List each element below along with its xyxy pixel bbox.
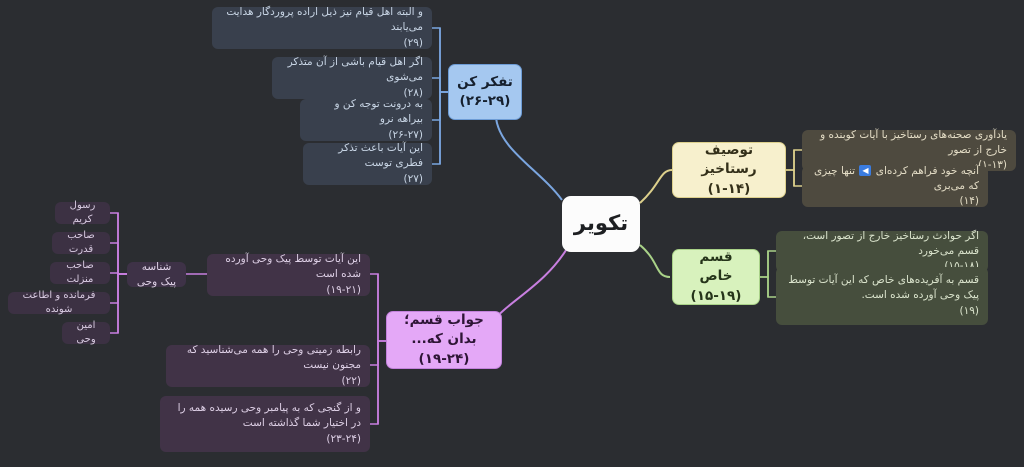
attribute-label: صاحب منزلت bbox=[59, 259, 101, 287]
leaf-text: و البته اهل قیام نیز ذیل اراده پروردگار … bbox=[221, 5, 423, 35]
leaf-node[interactable]: این آیات توسط پیک وحی آورده شده است (۱۹-… bbox=[207, 254, 370, 296]
link-ghasam-2 bbox=[760, 277, 776, 297]
branch-node-ghasam-khas[interactable]: قسم خاص (۱۵-۱۹) bbox=[672, 249, 760, 305]
leaf-text: اگر اهل قیام باشی از آن متذکر می‌شوی bbox=[281, 55, 423, 85]
mindmap-canvas[interactable]: تکویر تفکر کن (۲۶-۲۹) و البته اهل قیام ن… bbox=[0, 0, 1024, 467]
link-attr-2 bbox=[110, 243, 127, 274]
leaf-text-part2: آنچه خود فراهم کرده‌ای bbox=[876, 165, 979, 177]
leaf-ref: (۲۹) bbox=[221, 36, 423, 51]
leaf-text: به درونت توجه کن و بیراهه نرو bbox=[309, 97, 423, 127]
leaf-node[interactable]: اگر حوادث رستاخیز خارج از تصور است، قسم … bbox=[776, 231, 988, 272]
link-javab-2 bbox=[370, 341, 386, 365]
branch-node-javab-ghasam[interactable]: جواب قسم؛ بدان که... (۱۹-۲۴) bbox=[386, 311, 502, 369]
link-root-ghasam bbox=[640, 245, 670, 277]
leaf-node[interactable]: رابطه زمینی وحی را همه می‌شناسید که مجنو… bbox=[166, 345, 370, 387]
messenger-attribute[interactable]: صاحب قدرت bbox=[52, 232, 110, 254]
link-tosif-1 bbox=[786, 150, 802, 170]
messenger-attribute[interactable]: فرمانده و اطاعت شونده bbox=[8, 292, 110, 314]
leaf-node[interactable]: و از گنجی که به پیامبر وحی رسیده همه را … bbox=[160, 396, 370, 452]
link-attr-3 bbox=[110, 273, 127, 274]
attribute-label: صاحب قدرت bbox=[61, 229, 101, 257]
link-attr-5 bbox=[110, 274, 127, 333]
attribute-label: رسول کریم bbox=[64, 199, 101, 227]
root-label: تکویر bbox=[574, 209, 628, 239]
messenger-attribute[interactable]: صاحب منزلت bbox=[50, 262, 110, 284]
link-tosif-2 bbox=[786, 170, 802, 186]
leaf-text: این آیات توسط پیک وحی آورده شده است bbox=[216, 252, 361, 282]
link-javab-3 bbox=[370, 341, 386, 424]
leaf-text-composite: آنچه خود فراهم کرده‌ای ◀ تنها چیزی که می… bbox=[811, 164, 979, 194]
link-tafakkor-1 bbox=[432, 28, 448, 92]
leaf-node[interactable]: قسم به آفریده‌های خاص که این آیات توسط پ… bbox=[776, 267, 988, 325]
messenger-group-label: شناسه پیک وحی bbox=[136, 260, 177, 290]
leaf-ref: (۲۳-۲۴) bbox=[169, 432, 361, 447]
branch-ref: (۲۶-۲۹) bbox=[460, 92, 511, 111]
branch-node-tosif[interactable]: توصیف رستاخیز (۱-۱۴) bbox=[672, 142, 786, 198]
branch-node-tafakkor[interactable]: تفکر کن (۲۶-۲۹) bbox=[448, 64, 522, 120]
link-ghasam-1 bbox=[760, 251, 776, 277]
leaf-text: این آیات باعث تذکر فطری توست bbox=[312, 141, 423, 171]
leaf-ref: (۲۷) bbox=[312, 172, 423, 187]
leaf-text: و از گنجی که به پیامبر وحی رسیده همه را … bbox=[169, 401, 361, 431]
root-node[interactable]: تکویر bbox=[562, 196, 640, 252]
leaf-node[interactable]: به درونت توجه کن و بیراهه نرو (۲۶-۲۷) bbox=[300, 99, 432, 141]
link-root-tosif bbox=[640, 170, 672, 203]
left-arrow-emoji-icon: ◀ bbox=[859, 165, 871, 176]
branch-label: توصیف رستاخیز bbox=[681, 141, 777, 179]
messenger-attribute[interactable]: امین وحی bbox=[62, 322, 110, 344]
messenger-group-head[interactable]: شناسه پیک وحی bbox=[127, 262, 186, 287]
attribute-label: امین وحی bbox=[71, 319, 101, 347]
leaf-node[interactable]: اگر اهل قیام باشی از آن متذکر می‌شوی (۲۸… bbox=[272, 57, 432, 99]
leaf-node[interactable]: این آیات باعث تذکر فطری توست (۲۷) bbox=[303, 143, 432, 185]
messenger-attribute[interactable]: رسول کریم bbox=[55, 202, 110, 224]
leaf-ref: (۱۹) bbox=[785, 304, 979, 319]
leaf-node[interactable]: آنچه خود فراهم کرده‌ای ◀ تنها چیزی که می… bbox=[802, 166, 988, 207]
leaf-node[interactable]: و البته اهل قیام نیز ذیل اراده پروردگار … bbox=[212, 7, 432, 49]
link-javab-1 bbox=[370, 274, 386, 341]
link-attr-1 bbox=[110, 213, 127, 274]
leaf-text: اگر حوادث رستاخیز خارج از تصور است، قسم … bbox=[785, 229, 979, 259]
branch-label: جواب قسم؛ بدان که... bbox=[395, 311, 493, 349]
branch-ref: (۱۹-۲۴) bbox=[419, 350, 470, 369]
attribute-label: فرمانده و اطاعت شونده bbox=[17, 289, 101, 317]
link-tafakkor-4 bbox=[432, 92, 448, 164]
branch-label: قسم خاص bbox=[681, 248, 751, 286]
link-root-tafakkor bbox=[496, 118, 562, 200]
branch-ref: (۱۵-۱۹) bbox=[691, 287, 742, 306]
leaf-ref: (۱۴) bbox=[811, 194, 979, 209]
leaf-ref: (۲۲) bbox=[175, 374, 361, 389]
leaf-text: یادآوری صحنه‌های رستاخیز با آیات کوبنده … bbox=[811, 128, 1007, 158]
link-attr-4 bbox=[110, 274, 127, 303]
branch-ref: (۱-۱۴) bbox=[708, 180, 751, 199]
leaf-text: رابطه زمینی وحی را همه می‌شناسید که مجنو… bbox=[175, 343, 361, 373]
link-tafakkor-2 bbox=[432, 78, 448, 92]
branch-label: تفکر کن bbox=[457, 73, 513, 92]
link-tafakkor-3 bbox=[432, 92, 448, 120]
leaf-text: قسم به آفریده‌های خاص که این آیات توسط پ… bbox=[785, 273, 979, 303]
link-root-javab bbox=[492, 247, 568, 322]
leaf-ref: (۱۹-۲۱) bbox=[216, 283, 361, 298]
